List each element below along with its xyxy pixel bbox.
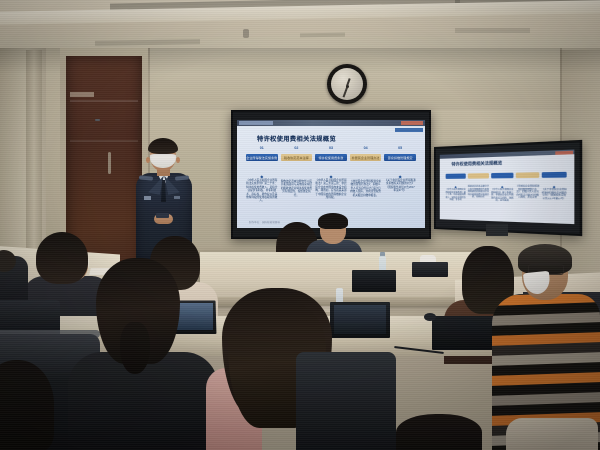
timeline-step-number: 03 xyxy=(329,146,333,150)
tissue-box xyxy=(412,262,448,277)
presenter-badge xyxy=(144,196,151,200)
presenter-badge xyxy=(174,196,180,199)
timeline-step-number: 04 xyxy=(364,146,368,150)
side-slide-timeline xyxy=(446,172,567,179)
audience-member-hair xyxy=(318,213,348,229)
timeline-step: 02税收协定范本注释 xyxy=(281,154,313,161)
laptop[interactable] xyxy=(352,270,396,292)
timeline-step-label: 企业所得税法实施条例 xyxy=(246,154,278,161)
side-display-screen: 特许权使用费相关法规概览 ◆《中华人民共和国企业所得税法实施条例》第二十条：特许… xyxy=(440,150,575,225)
toolbar-right-chip xyxy=(401,121,423,125)
slide-column: 《非居民企业所得税源泉扣缴管理暂行办法》：扣缴义务人应当自代扣之日起7日内缴入国… xyxy=(350,174,382,203)
side-toolbar-chip xyxy=(555,151,573,155)
presenter-hair xyxy=(148,138,178,154)
presenter-ear xyxy=(176,157,180,163)
computer-mouse[interactable] xyxy=(424,313,436,321)
side-slide-columns: ◆《中华人民共和国企业所得税法实施条例》第二十条：特许权使用费收入，是指企业提供… xyxy=(446,186,567,204)
timeline-step: 05源泉扣缴管理规定 xyxy=(384,154,416,161)
main-display-screen: 特许权使用费相关法规概览 01企业所得税法实施条例02税收协定范本注释03特许权… xyxy=(237,120,425,228)
slide-column-text: 《关于非居民企业所得税源泉扣缴有关问题的公告》（国家税务总局公告2017年第37… xyxy=(384,179,416,193)
side-slide-column: ◆《关于非居民企业所得税源泉扣缴有关问题的公告》（国家税务总局公告2017年第3… xyxy=(542,186,567,204)
conference-chair[interactable] xyxy=(296,352,396,450)
audience-member-collar xyxy=(506,418,598,450)
slide-column: 税收协定范本注释中华人民共和国政府与其他国家缔结的税收协定对特许权使用费另有规定… xyxy=(281,174,313,203)
timeline-step-number: 05 xyxy=(398,146,402,150)
timeline-step: 03特许权使用费条款 xyxy=(315,154,347,161)
clock-center-pin xyxy=(346,85,349,88)
side-toolbar xyxy=(440,150,575,159)
slide-column: ◆《中华人民共和国企业所得税法实施条例》第二十条：特许权使用费收入，是指企业提供… xyxy=(246,174,278,203)
slide-title: 特许权使用费相关法规概览 xyxy=(257,134,336,143)
display-power-led xyxy=(95,119,100,121)
side-timeline-step xyxy=(542,172,567,178)
side-slide-title: 特许权使用费相关法规概览 xyxy=(452,160,503,168)
timeline-step-number: 02 xyxy=(294,146,298,150)
timeline-step-number: 01 xyxy=(260,146,264,150)
side-timeline-step xyxy=(468,173,489,179)
conference-room-photo: 特许权使用费相关法规概览 01企业所得税法实施条例02税收协定范本注释03特许权… xyxy=(0,0,600,450)
timeline-step-label: 特许权使用费条款 xyxy=(315,154,347,161)
laptop-screen xyxy=(334,305,386,334)
ceiling-downlight xyxy=(243,29,249,38)
side-slide-column-text: 《中华人民共和国企业所得税法实施条例》第二十条：特许权使用费收入，是指企业提供专… xyxy=(446,189,466,202)
side-slide-column: 《非居民企业所得税源泉扣缴管理暂行办法》：扣缴义务人应当自代扣之日起7日内缴入国… xyxy=(516,186,540,203)
slide-corner-tag xyxy=(395,128,423,132)
presenter-device xyxy=(156,213,169,218)
ceiling-vent xyxy=(300,33,345,38)
ceiling-vent xyxy=(455,28,530,33)
side-slide-column: ◆《中华人民共和国企业所得税法》第三条第三款：非居民企业在中国境内未设立机构、场… xyxy=(491,186,513,203)
side-display[interactable]: 特许权使用费相关法规概览 ◆《中华人民共和国企业所得税法实施条例》第二十条：特许… xyxy=(434,140,582,236)
toolbar-left-chip xyxy=(239,121,273,125)
slide-columns: ◆《中华人民共和国企业所得税法实施条例》第二十条：特许权使用费收入，是指企业提供… xyxy=(246,174,416,203)
laptop[interactable] xyxy=(432,316,494,350)
slide-column: ◆《中华人民共和国企业所得税法》第三条第三款：非居民企业在中国境内未设立机构、场… xyxy=(315,174,347,203)
side-slide-column-text: 《非居民企业所得税源泉扣缴管理暂行办法》：扣缴义务人应当自代扣之日起7日内缴入国… xyxy=(516,186,540,200)
side-slide-column: 税收协定范本注释中华人民共和国政府与其他国家缔结的税收协定对特许权使用费另有规定… xyxy=(468,186,489,203)
audience-member-hair xyxy=(36,232,88,284)
side-timeline-step xyxy=(491,173,513,179)
clock-face xyxy=(331,68,363,100)
ponytail xyxy=(120,322,150,374)
side-display-stand xyxy=(486,224,508,236)
slide-column-text: 税收协定范本注释中华人民共和国政府与其他国家缔结的税收协定对特许权使用费另有规定… xyxy=(281,180,313,197)
audience-member-hair xyxy=(396,414,482,450)
side-slide-column-text: 《中华人民共和国企业所得税法》第三条第三款：非居民企业在中国境内未设立机构、场所… xyxy=(491,189,513,203)
timeline-step-label: 非居民企业管理办法 xyxy=(350,154,382,161)
timeline-step-label: 税收协定范本注释 xyxy=(281,154,313,161)
slide-column-text: 《中华人民共和国企业所得税法实施条例》第二十条：特许权使用费收入，是指企业提供专… xyxy=(246,179,278,203)
side-timeline-step xyxy=(446,173,466,178)
side-slide-column-text: 税收协定范本注释中华人民共和国政府与其他国家缔结的税收协定对特许权使用费另有规定… xyxy=(468,186,489,199)
slide-column-text: 《非居民企业所得税源泉扣缴管理暂行办法》：扣缴义务人应当自代扣之日起7日内缴入国… xyxy=(350,180,382,197)
side-slide-column-text: 《关于非居民企业所得税源泉扣缴有关问题的公告》（国家税务总局公告2017年第37… xyxy=(542,189,567,201)
timeline-step: 04非居民企业管理办法 xyxy=(350,154,382,161)
timeline-step: 01企业所得税法实施条例 xyxy=(246,154,278,161)
door-sign xyxy=(70,92,94,97)
slide-column-text: 《中华人民共和国企业所得税法》第三条第三款：非居民企业在中国境内未设立机构、场所… xyxy=(315,179,347,199)
wall-clock xyxy=(327,64,367,104)
slide-footer: 制作单位：国际税收管理科 xyxy=(249,220,280,224)
side-timeline-step xyxy=(516,172,540,178)
timeline-step-label: 源泉扣缴管理规定 xyxy=(384,154,416,161)
door-panel-line xyxy=(70,100,138,102)
slide-timeline: 01企业所得税法实施条例02税收协定范本注释03特许权使用费条款04非居民企业管… xyxy=(246,154,416,170)
slide-column: ◆《关于非居民企业所得税源泉扣缴有关问题的公告》（国家税务总局公告2017年第3… xyxy=(384,174,416,203)
side-slide-column: ◆《中华人民共和国企业所得税法实施条例》第二十条：特许权使用费收入，是指企业提供… xyxy=(446,186,466,202)
door-handle[interactable] xyxy=(108,152,111,174)
